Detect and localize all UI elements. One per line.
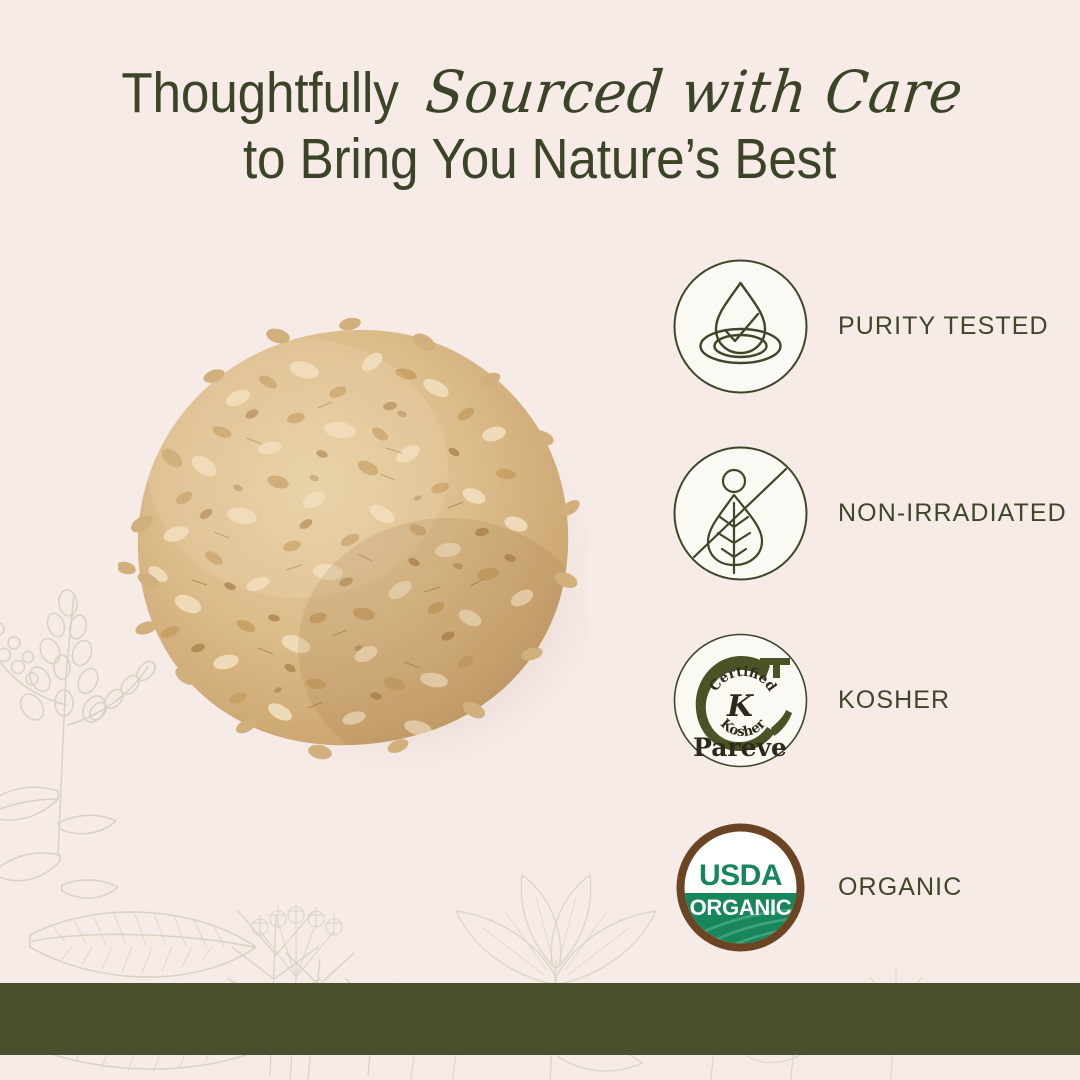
badge-label-non-irradiated: NON-IRRADIATED — [838, 499, 1067, 528]
usda-seal-organic-text: ORGANIC — [690, 895, 792, 920]
badge-label-purity-tested: PURITY TESTED — [838, 312, 1049, 341]
certified-kosher-pareve-icon: Certified K Kosher Pareve — [672, 632, 809, 769]
kosher-seal-pareve-text: Pareve — [693, 733, 787, 762]
headline-line-2: to Bring You Nature’s Best — [0, 129, 1080, 189]
badge-row-organic: USDA ORGANIC ORGANIC — [672, 819, 1072, 1006]
badge-row-kosher: Certified K Kosher Pareve KOSHER — [672, 632, 1072, 819]
headline-text-line2: to Bring You Nature’s Best — [243, 129, 836, 189]
headline-text-part1: Thoughtfully — [122, 63, 399, 123]
bottom-color-band — [0, 983, 1080, 1055]
badge-row-non-irradiated: NON-IRRADIATED — [672, 445, 1072, 632]
water-drop-check-icon — [672, 258, 809, 395]
dried-root-pile-image — [118, 318, 588, 778]
page-title: Thoughtfully Sourced with Care to Bring … — [0, 62, 1080, 190]
leaf-no-irradiation-icon — [672, 445, 809, 582]
headline-script-phrase: Sourced with Care — [423, 62, 966, 123]
badge-row-purity-tested: PURITY TESTED — [672, 258, 1072, 445]
promo-poster: Thoughtfully Sourced with Care to Bring … — [0, 0, 1080, 1080]
usda-organic-seal-icon: USDA ORGANIC — [672, 819, 809, 956]
headline-line-1: Thoughtfully Sourced with Care — [0, 62, 1080, 123]
badge-label-organic: ORGANIC — [838, 873, 962, 902]
certification-badge-list: PURITY TESTED NON-IRRA — [672, 258, 1072, 1006]
badge-label-kosher: KOSHER — [838, 686, 950, 715]
usda-seal-usda-text: USDA — [699, 859, 782, 892]
